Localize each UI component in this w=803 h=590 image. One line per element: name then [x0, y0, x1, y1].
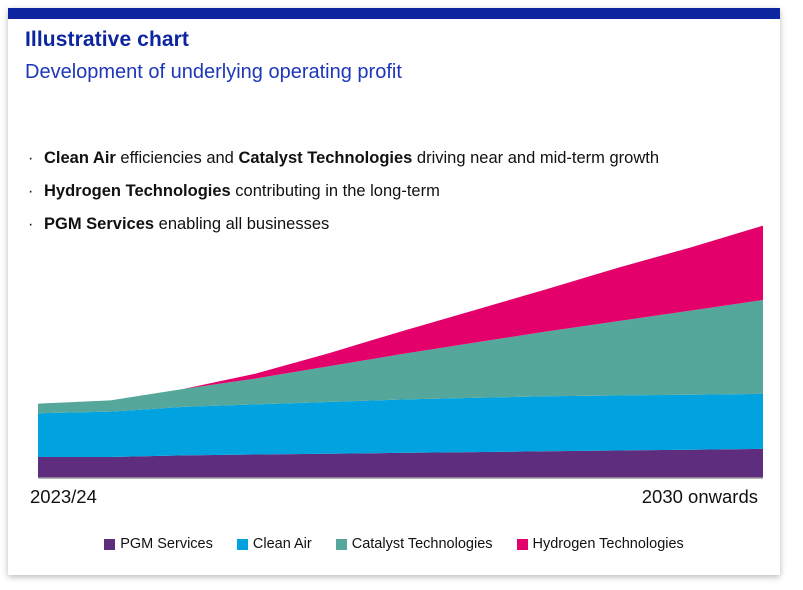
bullet-plain: efficiencies and	[116, 149, 239, 167]
list-item: · Clean Air efficiencies and Catalyst Te…	[22, 148, 662, 170]
bullet-marker-icon: ·	[28, 214, 33, 235]
legend-label: Hydrogen Technologies	[533, 536, 684, 552]
bullet-emphasis: Clean Air	[44, 149, 116, 167]
page-subtitle: Development of underlying operating prof…	[25, 61, 402, 84]
legend-swatch-icon	[237, 539, 248, 550]
legend-item-clean-air[interactable]: Clean Air	[237, 536, 312, 552]
legend-swatch-icon	[336, 539, 347, 550]
bullet-emphasis: Catalyst Technologies	[238, 149, 412, 167]
legend-item-hydrogen-technologies[interactable]: Hydrogen Technologies	[517, 536, 684, 552]
screenshot-root: Illustrative chart Development of underl…	[0, 0, 803, 590]
legend-item-catalyst-technologies[interactable]: Catalyst Technologies	[336, 536, 493, 552]
legend-label: Clean Air	[253, 536, 312, 552]
bullet-plain: driving near and mid-term growth	[412, 149, 659, 167]
x-axis-end-label: 2030 onwards	[642, 486, 758, 508]
chart-legend: PGM Services Clean Air Catalyst Technolo…	[8, 536, 780, 552]
page-title: Illustrative chart	[25, 28, 189, 52]
legend-label: Catalyst Technologies	[352, 536, 493, 552]
legend-swatch-icon	[517, 539, 528, 550]
legend-label: PGM Services	[120, 536, 213, 552]
bullet-marker-icon: ·	[28, 148, 33, 169]
chart-canvas	[38, 198, 763, 483]
legend-swatch-icon	[104, 539, 115, 550]
legend-item-pgm-services[interactable]: PGM Services	[104, 536, 213, 552]
stacked-area-chart	[38, 198, 763, 483]
x-axis-start-label: 2023/24	[30, 486, 97, 508]
bullet-text: Clean Air efficiencies and Catalyst Tech…	[44, 149, 659, 167]
card-accent-bar	[8, 8, 780, 19]
bullet-marker-icon: ·	[28, 181, 33, 202]
chart-card: Illustrative chart Development of underl…	[8, 8, 780, 575]
